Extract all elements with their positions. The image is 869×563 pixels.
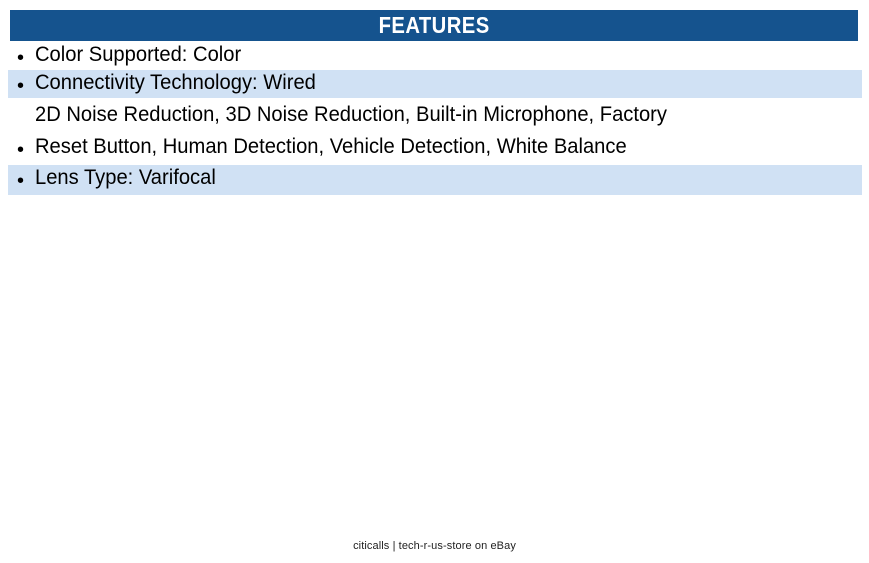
- list-item: • Connectivity Technology: Wired: [8, 70, 862, 98]
- feature-text: Color Supported: Color: [35, 44, 825, 65]
- bullet-icon: •: [17, 167, 35, 191]
- features-header-bar: FEATURES: [10, 10, 858, 41]
- list-item: 2D Noise Reduction, 3D Noise Reduction, …: [8, 98, 862, 134]
- bullet-icon: •: [17, 136, 35, 160]
- feature-text: Lens Type: Varifocal: [35, 167, 825, 188]
- feature-text: 2D Noise Reduction, 3D Noise Reduction, …: [35, 104, 825, 125]
- feature-list: • Color Supported: Color • Connectivity …: [8, 41, 862, 195]
- footer-credit: citicalls | tech-r-us-store on eBay: [0, 540, 869, 552]
- page-title: FEATURES: [378, 14, 489, 37]
- feature-text: Reset Button, Human Detection, Vehicle D…: [35, 136, 825, 157]
- list-item: • Reset Button, Human Detection, Vehicle…: [8, 134, 862, 165]
- list-item: • Lens Type: Varifocal: [8, 165, 862, 195]
- bullet-icon: •: [17, 44, 35, 68]
- list-item: • Color Supported: Color: [8, 41, 862, 70]
- feature-text: Connectivity Technology: Wired: [35, 72, 825, 93]
- bullet-icon: •: [17, 72, 35, 96]
